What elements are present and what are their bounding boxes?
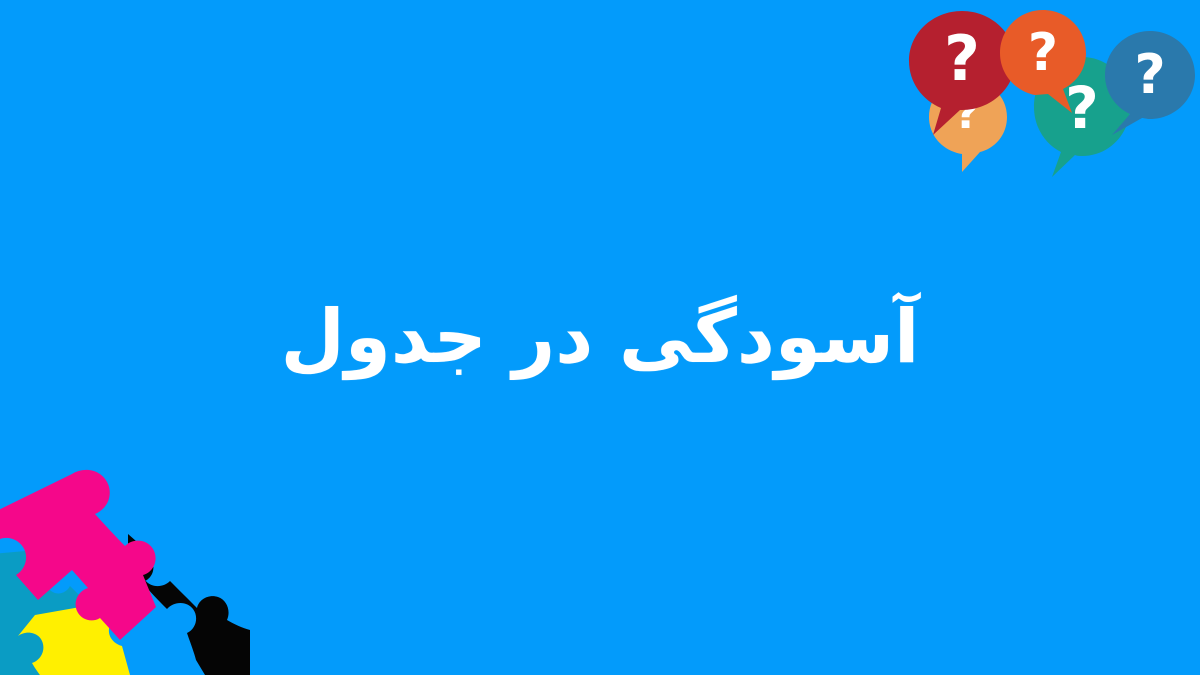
headline-container: آسودگی در جدول [0, 0, 1200, 675]
page-title: آسودگی در جدول [281, 291, 920, 384]
slide-canvas: ? ? ? ? ? آسودگی در جدول [0, 0, 1200, 675]
